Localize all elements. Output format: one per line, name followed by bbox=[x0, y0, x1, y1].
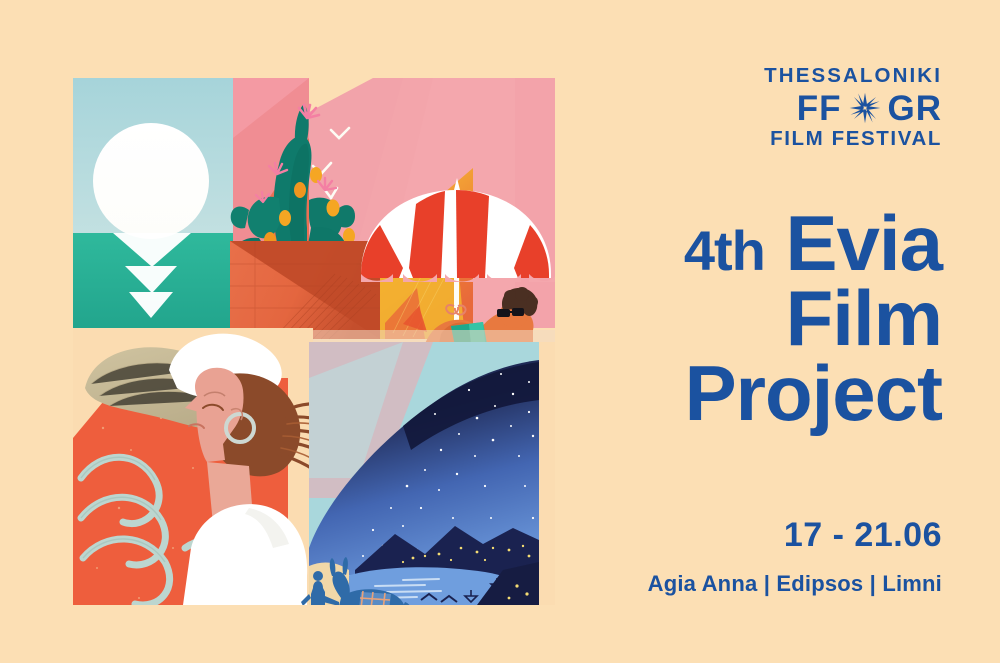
thessaloniki-film-festival-logo: THESSALONIKI FF bbox=[764, 66, 942, 149]
poster-canvas: THESSALONIKI FF bbox=[0, 0, 1000, 663]
title-line-3: Project bbox=[522, 356, 942, 431]
festival-dates: 17 - 21.06 bbox=[784, 516, 942, 555]
artwork-collage bbox=[73, 78, 555, 605]
logo-ff: FF bbox=[797, 91, 842, 126]
title-ordinal: 4th bbox=[684, 219, 765, 282]
collage-svg bbox=[73, 78, 555, 605]
page-title: 4th Evia Film Project bbox=[522, 206, 942, 431]
starburst-icon bbox=[848, 91, 882, 125]
logo-line-film-festival: FILM FESTIVAL bbox=[764, 129, 942, 150]
logo-line-ff-gr: FF bbox=[764, 91, 942, 126]
logo-line-thessaloniki: THESSALONIKI bbox=[764, 66, 942, 87]
terracotta-planter bbox=[230, 241, 380, 339]
title-line-2: Film bbox=[522, 281, 942, 356]
festival-venues: Agia Anna | Edipsos | Limni bbox=[648, 571, 942, 597]
logo-gr: GR bbox=[888, 91, 943, 126]
title-line-1: 4th Evia bbox=[522, 206, 942, 281]
